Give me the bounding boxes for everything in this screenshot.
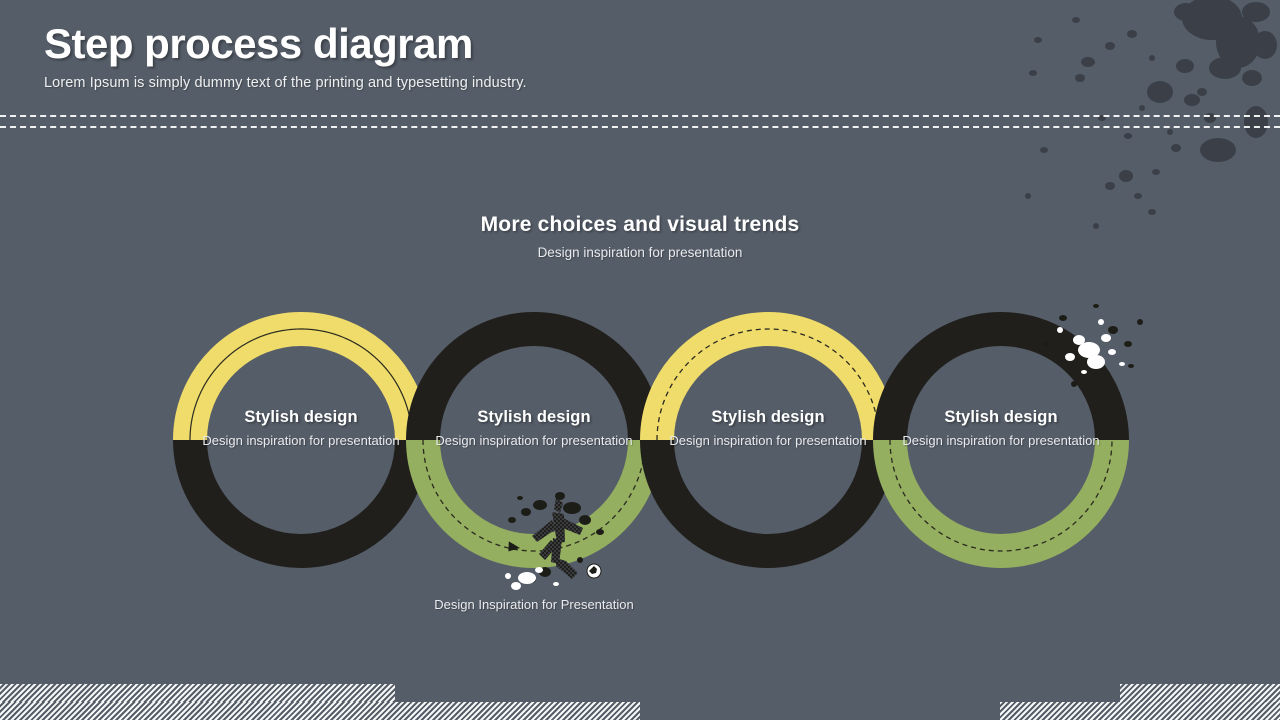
ring-2-caption: Design Inspiration for Presentation — [424, 596, 644, 614]
ring-4-label: Stylish design Design inspiration for pr… — [896, 408, 1106, 450]
hatch-bar-bottom-right-lower — [1000, 702, 1280, 720]
ring-2[interactable] — [423, 329, 645, 590]
hatch-bar-bottom-right-upper — [1120, 684, 1280, 702]
ring-2-description: Design inspiration for presentation — [429, 432, 639, 450]
ring-1-description: Design inspiration for presentation — [196, 432, 406, 450]
ring-2-white-splatter — [505, 567, 559, 590]
ring-3-label: Stylish design Design inspiration for pr… — [663, 408, 873, 450]
ring-4-description: Design inspiration for presentation — [896, 432, 1106, 450]
ring-3-description: Design inspiration for presentation — [663, 432, 873, 450]
ring-1-label: Stylish design Design inspiration for pr… — [196, 408, 406, 450]
ring-3-title: Stylish design — [663, 408, 873, 427]
ring-2-label: Stylish design Design inspiration for pr… — [429, 408, 639, 450]
hatch-bar-bottom-left-lower — [0, 702, 640, 720]
hatch-bar-bottom-left-upper — [0, 684, 395, 702]
ring-4-title: Stylish design — [896, 408, 1106, 427]
ring-2-title: Stylish design — [429, 408, 639, 427]
ring-1-title: Stylish design — [196, 408, 406, 427]
